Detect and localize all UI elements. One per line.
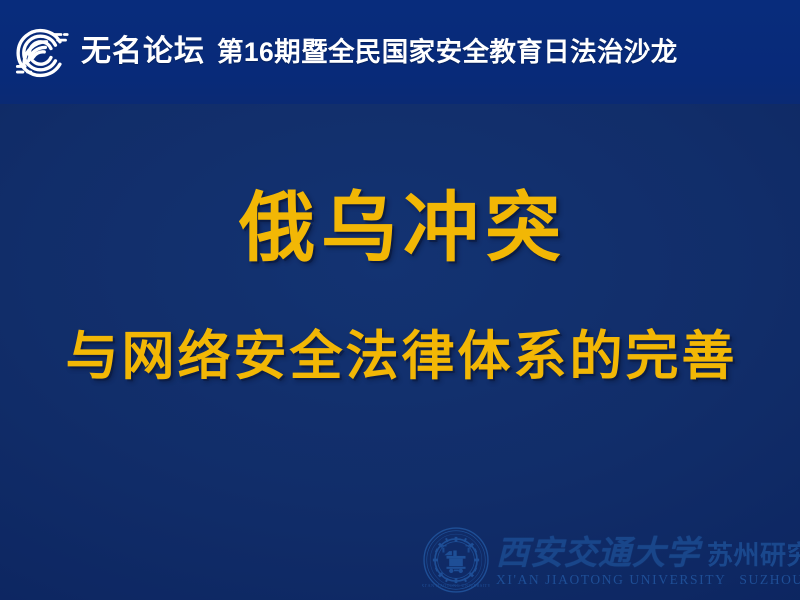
university-wordmark: 西安交通大学 苏州研究院 XI'AN JIAOTONG UNIVERSITY S… xyxy=(496,534,800,587)
svg-text:XI'AN JIAOTONG UNIVERSITY: XI'AN JIAOTONG UNIVERSITY xyxy=(422,583,490,588)
university-crest-icon: XI'AN JIAOTONG UNIVERSITY xyxy=(422,526,490,594)
wordmark-chinese-row: 西安交通大学 苏州研究院 xyxy=(496,536,800,569)
header-subject-label: 第16期暨全民国家安全教育日法治沙龙 xyxy=(217,39,678,66)
wordmark-english-row: XI'AN JIAOTONG UNIVERSITY SUZHOU ACADEMY xyxy=(496,573,800,587)
university-name-cn: 西安交通大学 xyxy=(496,536,700,569)
fingerprint-swirl-icon xyxy=(14,25,70,81)
presentation-slide: 无名论坛 第16期暨全民国家安全教育日法治沙龙 俄乌冲突 与网络安全法律体系的完… xyxy=(0,0,800,600)
academy-name-cn: 苏州研究院 xyxy=(707,542,800,568)
header-band: 无名论坛 第16期暨全民国家安全教育日法治沙龙 xyxy=(0,0,800,104)
university-name-en: XI'AN JIAOTONG UNIVERSITY xyxy=(496,573,726,587)
forum-name-label: 无名论坛 xyxy=(81,37,205,67)
sub-title: 与网络安全法律体系的完善 xyxy=(0,327,800,388)
main-title: 俄乌冲突 xyxy=(0,186,800,271)
academy-name-en: SUZHOU ACADEMY xyxy=(739,573,800,587)
university-mark: XI'AN JIAOTONG UNIVERSITY 西安交通大学 苏州研究院 X… xyxy=(410,520,800,600)
